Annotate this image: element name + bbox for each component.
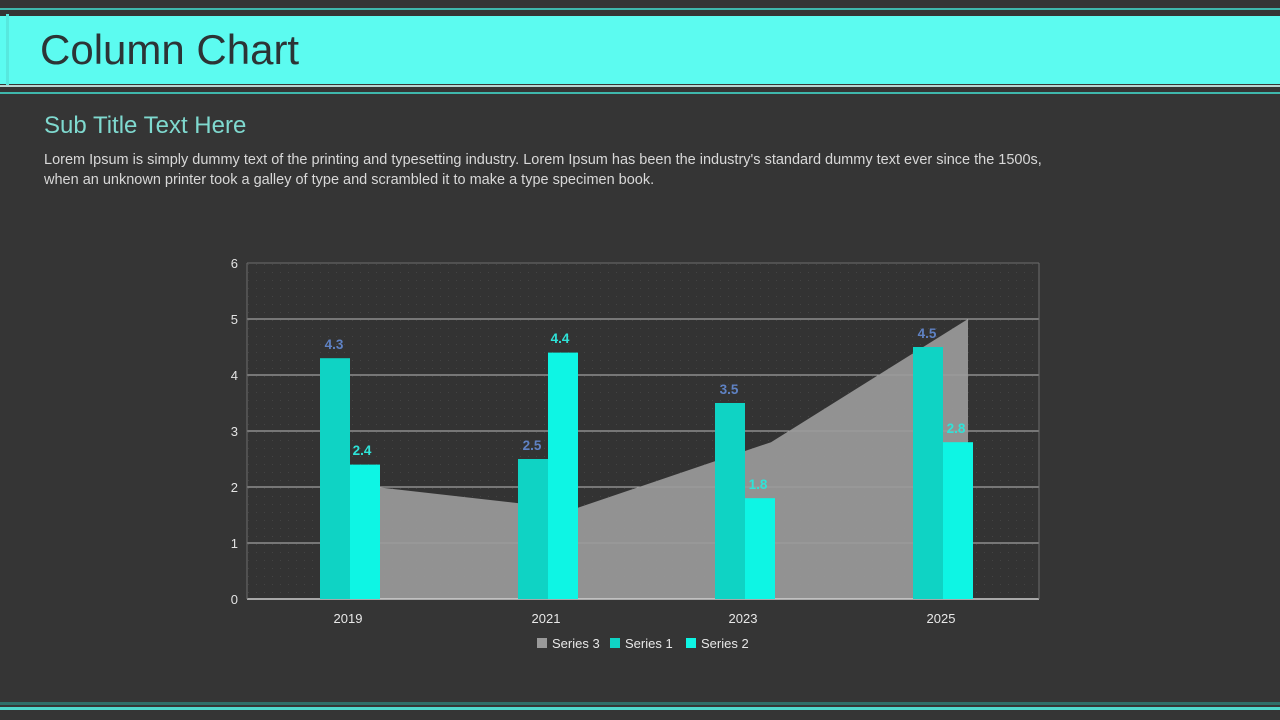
x-axis-category-labels: 2019 2021 2023 2025 xyxy=(334,611,956,626)
legend-swatch-series-3[interactable] xyxy=(537,638,547,648)
bar-series2-2023[interactable] xyxy=(745,498,775,599)
y-tick-4: 4 xyxy=(231,368,238,383)
y-tick-1: 1 xyxy=(231,536,238,551)
bar-series1-2023[interactable] xyxy=(715,403,745,599)
y-axis-tick-labels: 0 1 2 3 4 5 6 xyxy=(231,256,238,607)
legend-swatch-series-1[interactable] xyxy=(610,638,620,648)
slide: Column Chart Sub Title Text Here Lorem I… xyxy=(0,0,1280,720)
x-label-2025: 2025 xyxy=(927,611,956,626)
data-label-series2-2023: 1.8 xyxy=(749,477,768,492)
bar-series1-2021[interactable] xyxy=(518,459,548,599)
bar-series2-2021[interactable] xyxy=(548,353,578,599)
data-label-series2-2019: 2.4 xyxy=(353,443,372,458)
data-label-series1-2025: 4.5 xyxy=(918,326,937,341)
bar-series2-2025[interactable] xyxy=(943,442,973,599)
legend-swatch-series-2[interactable] xyxy=(686,638,696,648)
y-tick-6: 6 xyxy=(231,256,238,271)
bar-series2-2019[interactable] xyxy=(350,465,380,599)
data-label-series1-2021: 2.5 xyxy=(523,438,542,453)
data-label-series1-2019: 4.3 xyxy=(325,337,344,352)
bottom-accent-rule-cyan xyxy=(0,707,1280,710)
legend-label-series-3[interactable]: Series 3 xyxy=(552,636,600,651)
y-tick-5: 5 xyxy=(231,312,238,327)
x-label-2019: 2019 xyxy=(334,611,363,626)
chart-legend: Series 3 Series 1 Series 2 xyxy=(537,636,749,651)
data-label-series2-2025: 2.8 xyxy=(947,421,966,436)
bottom-accent-rule-dark xyxy=(0,702,1280,705)
legend-label-series-1[interactable]: Series 1 xyxy=(625,636,673,651)
bar-series1-2025[interactable] xyxy=(913,347,943,599)
legend-label-series-2[interactable]: Series 2 xyxy=(701,636,749,651)
column-chart[interactable]: 0 1 2 3 4 5 6 4.3 2.5 xyxy=(0,0,1280,720)
y-tick-0: 0 xyxy=(231,592,238,607)
y-tick-3: 3 xyxy=(231,424,238,439)
data-label-series1-2023: 3.5 xyxy=(720,382,739,397)
x-label-2023: 2023 xyxy=(729,611,758,626)
chart-canvas: 0 1 2 3 4 5 6 4.3 2.5 xyxy=(0,0,1280,720)
y-tick-2: 2 xyxy=(231,480,238,495)
x-label-2021: 2021 xyxy=(532,611,561,626)
data-label-series2-2021: 4.4 xyxy=(551,331,570,346)
bar-series1-2019[interactable] xyxy=(320,358,350,599)
